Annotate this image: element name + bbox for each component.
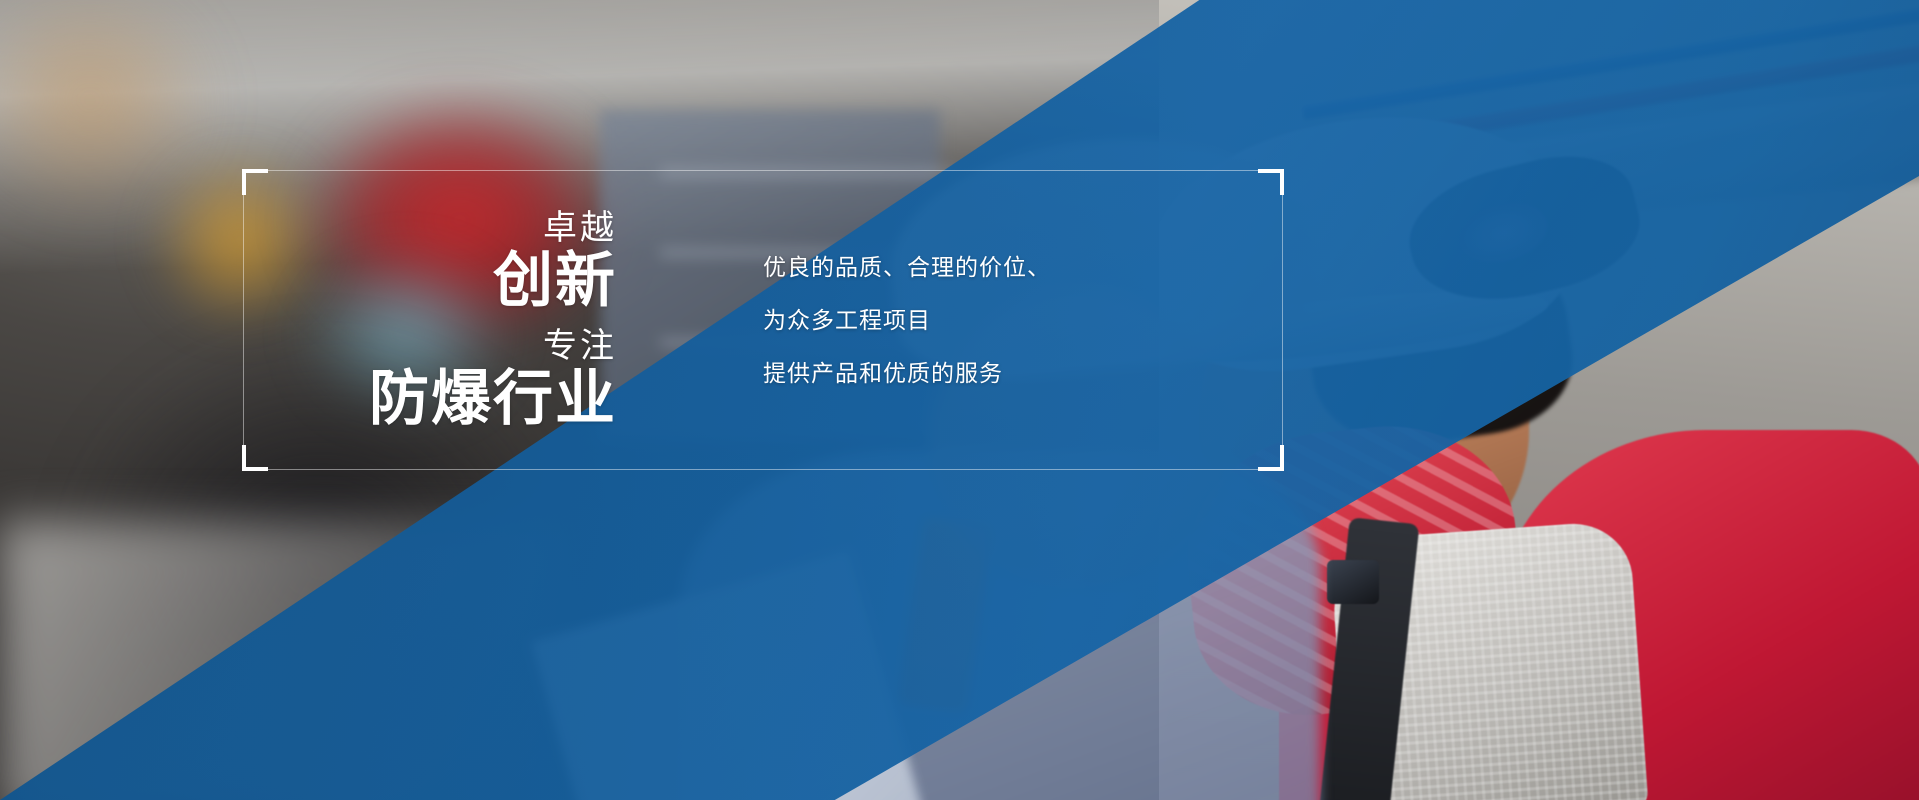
headline-line-innovation: 创新 <box>243 251 617 311</box>
description-line-1: 优良的品质、合理的价位、 <box>763 241 1051 294</box>
worker-vest-buckle <box>1327 560 1379 604</box>
headline-line-focus: 专注 <box>243 329 617 363</box>
banner-headline: 卓越 创新 专注 防爆行业 <box>243 211 643 429</box>
banner-description: 优良的品质、合理的价位、 为众多工程项目 提供产品和优质的服务 <box>763 241 1051 400</box>
headline-line-industry: 防爆行业 <box>243 369 617 429</box>
description-line-2: 为众多工程项目 <box>763 294 1051 347</box>
banner-content: 卓越 创新 专注 防爆行业 优良的品质、合理的价位、 为众多工程项目 提供产品和… <box>243 170 1283 470</box>
headline-line-excellence: 卓越 <box>243 211 617 245</box>
hero-banner: 卓越 创新 专注 防爆行业 优良的品质、合理的价位、 为众多工程项目 提供产品和… <box>0 0 1919 800</box>
description-line-3: 提供产品和优质的服务 <box>763 347 1051 400</box>
